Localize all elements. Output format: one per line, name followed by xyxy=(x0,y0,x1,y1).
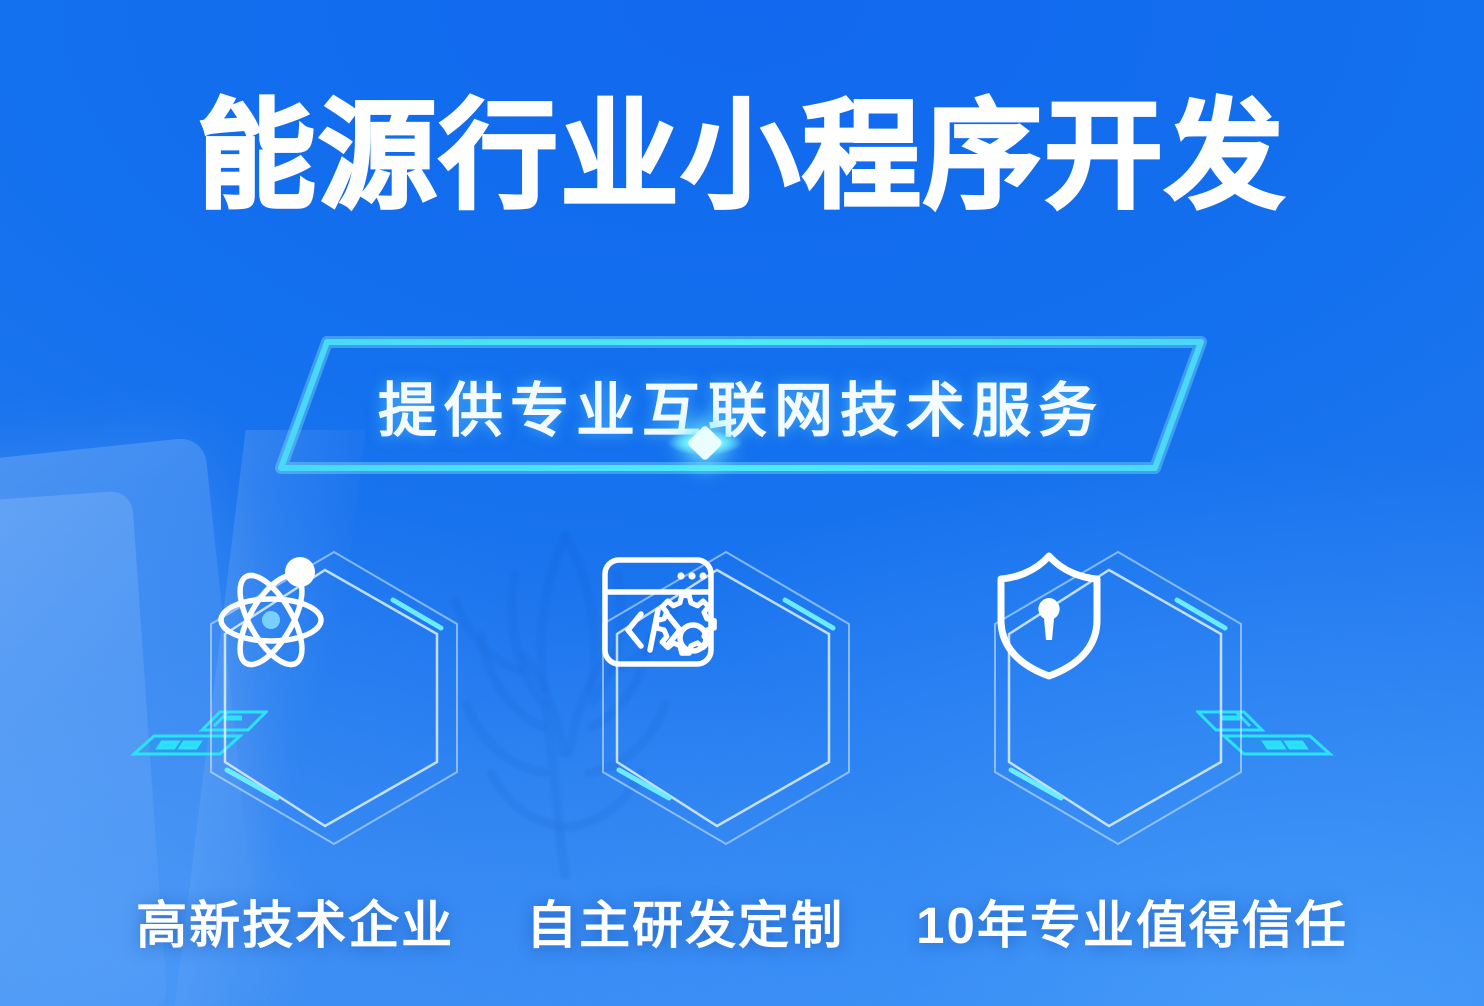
shield-lock-icon xyxy=(989,548,1247,848)
atom-icon xyxy=(205,548,463,848)
subtitle-section: 提供专业互联网技术服务 xyxy=(0,336,1484,486)
feature-caption-0: 高新技术企业 xyxy=(136,884,454,958)
code-window-gear-icon xyxy=(597,548,855,848)
page-title: 能源行业小程序开发 xyxy=(0,96,1484,220)
feature-badge-development[interactable] xyxy=(597,548,855,848)
subtitle-text: 提供专业互联网技术服务 xyxy=(241,336,1241,474)
feature-badge-atom[interactable] xyxy=(205,548,463,848)
feature-captions: 高新技术企业 自主研发定制 10年专业值得信任 xyxy=(0,884,1484,958)
feature-caption-2: 10年专业值得信任 xyxy=(916,884,1348,958)
feature-caption-1: 自主研发定制 xyxy=(526,884,844,958)
promo-banner: 能源行业小程序开发 xyxy=(0,0,1484,1006)
feature-badge-security[interactable] xyxy=(989,548,1247,848)
feature-badges xyxy=(0,548,1484,858)
